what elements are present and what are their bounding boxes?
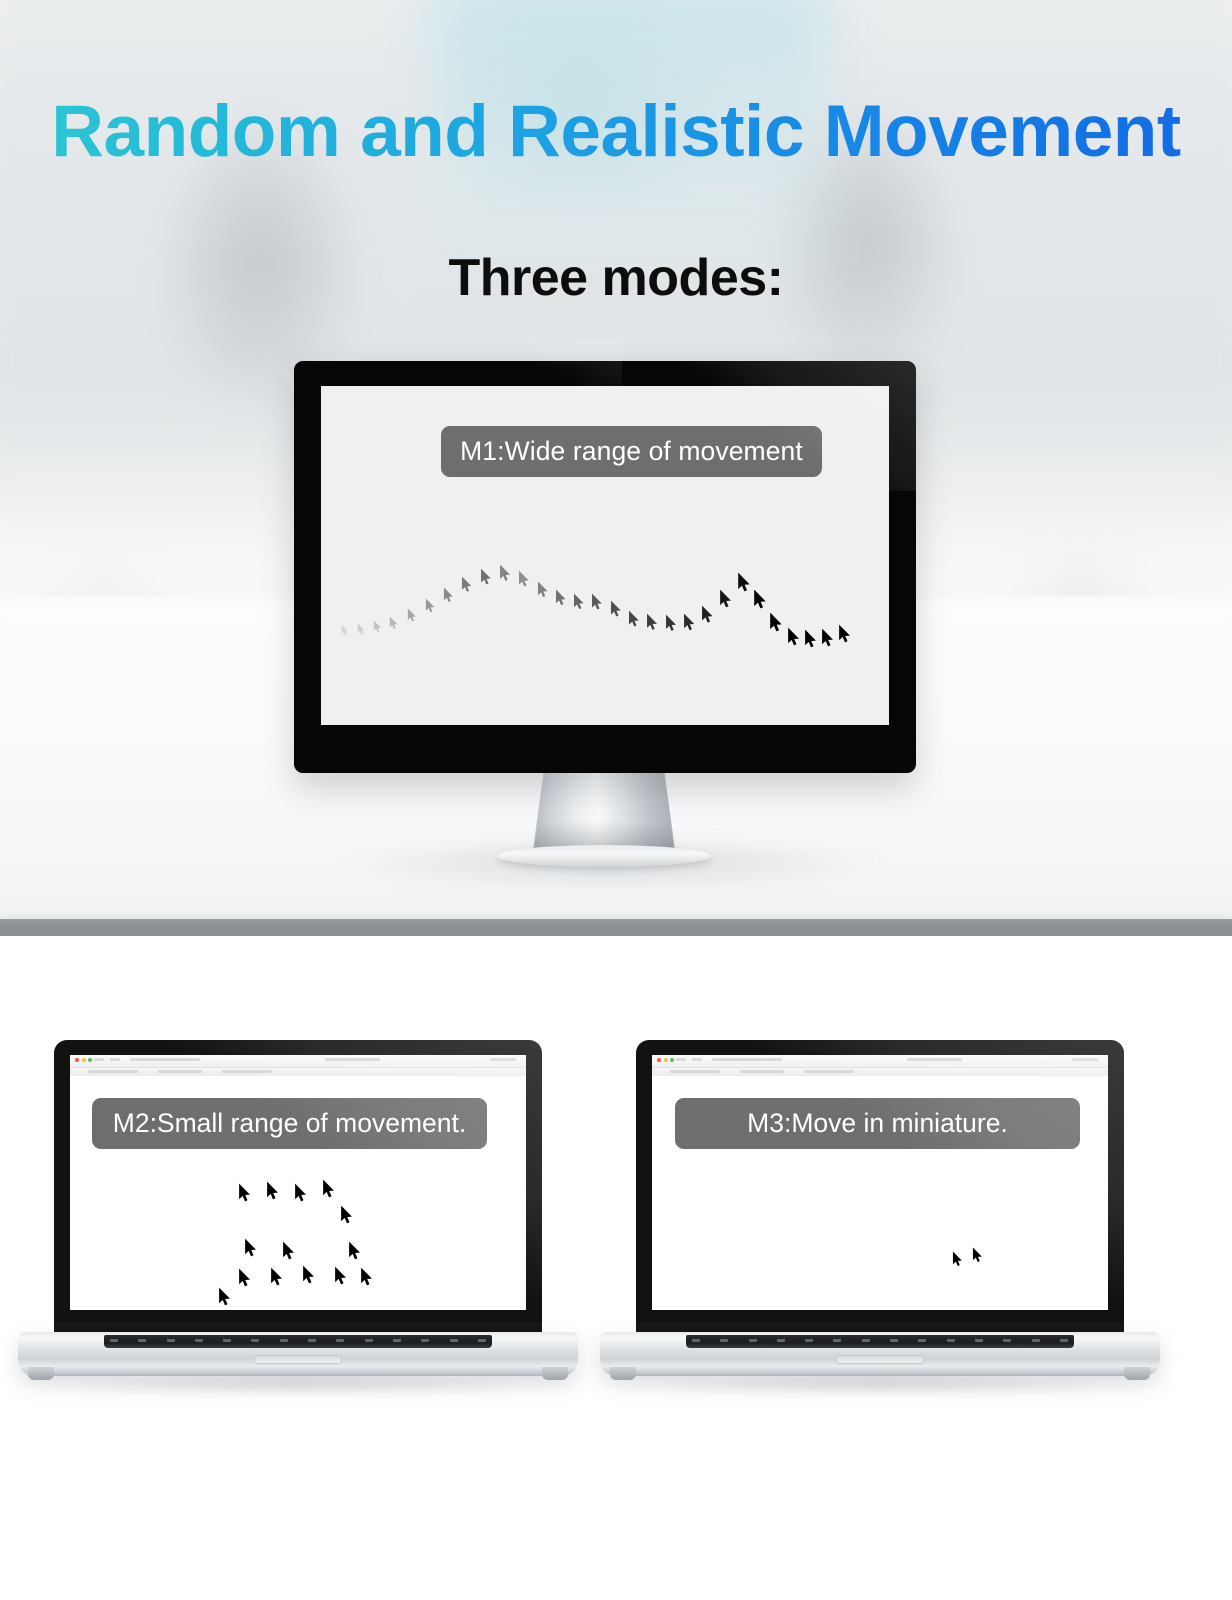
laptop-foot-right	[1124, 1367, 1150, 1380]
laptop-trackpad[interactable]	[254, 1355, 342, 1364]
infographic-page: Random and Realistic Movement Three mode…	[0, 0, 1232, 1600]
browser-tab-ghost[interactable]	[130, 1058, 200, 1061]
mode-label-m3: M3:Move in miniature.	[675, 1098, 1080, 1149]
desk-front-edge	[0, 919, 1232, 936]
monitor-screen: M1:Wide range of movement	[321, 386, 889, 725]
browser-forward-icon[interactable]	[692, 1058, 702, 1061]
maximize-green-icon[interactable]	[88, 1058, 92, 1062]
bookmark-ghost-1[interactable]	[88, 1070, 138, 1073]
browser-chrome-bar	[70, 1055, 526, 1076]
close-red-icon[interactable]	[657, 1058, 661, 1062]
laptop-screen-m2: M2:Small range of movement.	[70, 1055, 526, 1310]
laptop-m2: M2:Small range of movement.	[18, 1040, 578, 1400]
bookmark-ghost-3[interactable]	[222, 1070, 272, 1073]
bookmark-ghost-2[interactable]	[158, 1070, 202, 1073]
laptop-m3: M3:Move in miniature.	[600, 1040, 1160, 1400]
mode-label-m2: M2:Small range of movement.	[92, 1098, 487, 1149]
laptop-shadow	[618, 1374, 1142, 1394]
browser-chrome-bar	[652, 1055, 1108, 1076]
laptop-foot-left	[610, 1367, 636, 1380]
bookmark-ghost-2[interactable]	[740, 1070, 784, 1073]
browser-address-ghost[interactable]	[907, 1058, 962, 1061]
browser-menu-ghost[interactable]	[1072, 1058, 1098, 1061]
monitor-base	[497, 845, 711, 867]
laptop-trackpad[interactable]	[836, 1355, 924, 1364]
browser-address-ghost[interactable]	[325, 1058, 380, 1061]
bookmark-ghost-3[interactable]	[804, 1070, 854, 1073]
laptop-keys	[110, 1339, 486, 1343]
browser-bookmarks-bar	[70, 1067, 526, 1076]
hero-section: Random and Realistic Movement Three mode…	[0, 0, 1232, 936]
mode-label-m1: M1:Wide range of movement	[441, 426, 822, 477]
browser-back-icon[interactable]	[676, 1058, 686, 1061]
traffic-light-dots	[657, 1058, 674, 1062]
laptop-keys	[692, 1339, 1068, 1343]
browser-back-icon[interactable]	[94, 1058, 104, 1061]
laptop-foot-right	[542, 1367, 568, 1380]
close-red-icon[interactable]	[75, 1058, 79, 1062]
page-title: Random and Realistic Movement	[0, 95, 1232, 168]
monitor-gloss-highlight-lower	[530, 338, 622, 412]
browser-forward-icon[interactable]	[110, 1058, 120, 1061]
browser-menu-ghost[interactable]	[490, 1058, 516, 1061]
minimize-yellow-icon[interactable]	[82, 1058, 86, 1062]
browser-bookmarks-bar	[652, 1067, 1108, 1076]
laptop-foot-left	[28, 1367, 54, 1380]
browser-tab-ghost[interactable]	[712, 1058, 782, 1061]
traffic-light-dots	[75, 1058, 92, 1062]
desktop-monitor: M1:Wide range of movement	[294, 361, 916, 773]
laptop-shadow	[36, 1374, 560, 1394]
page-subtitle: Three modes:	[0, 248, 1232, 308]
maximize-green-icon[interactable]	[670, 1058, 674, 1062]
bookmark-ghost-1[interactable]	[670, 1070, 720, 1073]
minimize-yellow-icon[interactable]	[664, 1058, 668, 1062]
laptop-screen-m3: M3:Move in miniature.	[652, 1055, 1108, 1310]
